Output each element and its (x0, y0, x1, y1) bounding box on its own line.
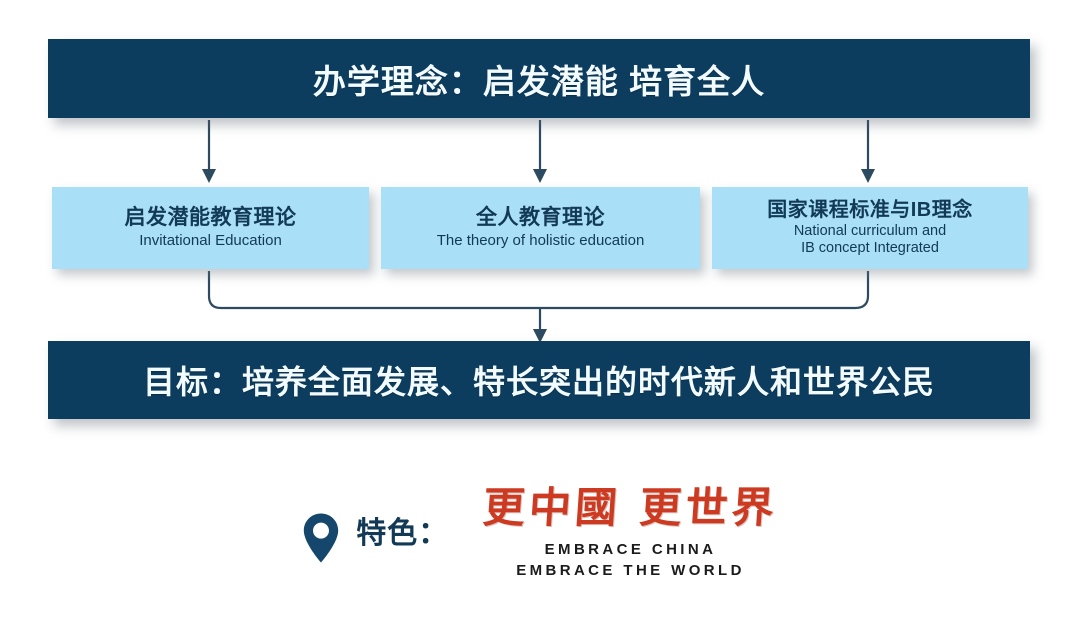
concept-box-2-en-title: The theory of holistic education (437, 232, 645, 250)
concept-box-3-en-title-line1: National curriculum and (794, 223, 946, 240)
brand-lockup: 更中國 更世界 EMBRACE CHINA EMBRACE THE WORLD (483, 486, 778, 582)
concept-box-3-en-title-line2: IB concept Integrated (801, 240, 939, 257)
concept-box-national-curriculum-ib: 国家课程标准与IB理念 National curriculum and IB c… (712, 187, 1028, 269)
brand-english-line2: EMBRACE THE WORLD (516, 560, 745, 581)
concept-box-1-en-title: Invitational Education (139, 232, 282, 250)
brand-chinese-calligraphy: 更中國 更世界 (482, 486, 780, 530)
goal-banner: 目标：培养全面发展、特长突出的时代新人和世界公民 (48, 341, 1030, 419)
concept-box-holistic-education: 全人教育理论 The theory of holistic education (381, 187, 700, 269)
title-banner-text: 办学理念：启发潜能 培育全人 (313, 55, 765, 103)
location-pin-icon (302, 512, 340, 569)
concept-box-invitational-education: 启发潜能教育理论 Invitational Education (52, 187, 369, 269)
bracket-connector (209, 271, 868, 308)
concept-box-2-cn-title: 全人教育理论 (476, 206, 605, 230)
concept-box-1-cn-title: 启发潜能教育理论 (125, 206, 297, 230)
title-banner: 办学理念：启发潜能 培育全人 (48, 39, 1030, 118)
feature-label: 特色： (356, 508, 449, 552)
concept-box-3-cn-title: 国家课程标准与IB理念 (767, 199, 973, 221)
brand-english-line1: EMBRACE CHINA (545, 539, 717, 560)
feature-logo-block: 特色： 更中國 更世界 EMBRACE CHINA EMBRACE THE WO… (0, 486, 1080, 582)
goal-banner-text: 目标：培养全面发展、特长突出的时代新人和世界公民 (143, 357, 935, 403)
slide-canvas: 办学理念：启发潜能 培育全人 启发潜能教育理论 Invitational Edu… (0, 0, 1080, 638)
